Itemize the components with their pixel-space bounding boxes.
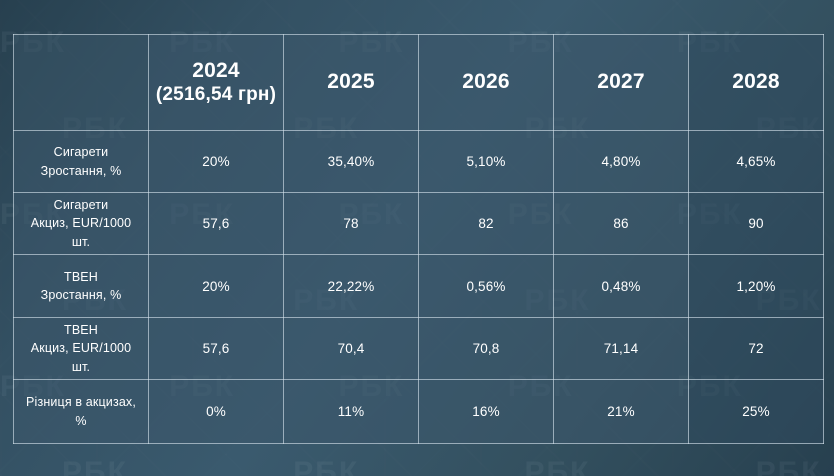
row-label-line1: ТВЕН [20,268,142,286]
cell-cigarettes-excise-2026: 82 [419,193,554,255]
cell-excise-difference-2024: 0% [149,380,284,444]
cell-cigarettes-growth-2025: 35,40% [284,131,419,193]
table-corner-cell [14,35,149,131]
column-header-2024: 2024 (2516,54 грн) [149,35,284,131]
row-label-cigarettes-excise: Сигарети Акциз, EUR/1000 шт. [14,193,149,255]
table-row: Різниця в акцизах, % 0% 11% 16% 21% 25% [14,380,824,444]
row-label-tven-excise: ТВЕН Акциз, EUR/1000 шт. [14,318,149,380]
row-label-line1: ТВЕН [20,321,142,339]
row-label-line2: Зростання, % [20,286,142,304]
row-label-line2: Акциз, EUR/1000 шт. [20,339,142,375]
cell-cigarettes-growth-2026: 5,10% [419,131,554,193]
row-label-line2: Акциз, EUR/1000 шт. [20,214,142,250]
cell-tven-excise-2024: 57,6 [149,318,284,380]
cell-tven-excise-2025: 70,4 [284,318,419,380]
cell-excise-difference-2027: 21% [554,380,689,444]
table-row: Сигарети Зростання, % 20% 35,40% 5,10% 4… [14,131,824,193]
column-header-2025: 2025 [284,35,419,131]
table-row: Сигарети Акциз, EUR/1000 шт. 57,6 78 82 … [14,193,824,255]
cell-tven-growth-2025: 22,22% [284,255,419,318]
table-row: ТВЕН Зростання, % 20% 22,22% 0,56% 0,48%… [14,255,824,318]
table-row: ТВЕН Акциз, EUR/1000 шт. 57,6 70,4 70,8 … [14,318,824,380]
row-label-line1: Різниця в акцизах, % [20,393,142,429]
cell-tven-excise-2026: 70,8 [419,318,554,380]
cell-cigarettes-excise-2024: 57,6 [149,193,284,255]
row-label-cigarettes-growth: Сигарети Зростання, % [14,131,149,193]
cell-tven-growth-2027: 0,48% [554,255,689,318]
table-header-row: 2024 (2516,54 грн) 2025 2026 2027 2028 [14,35,824,131]
table-body: Сигарети Зростання, % 20% 35,40% 5,10% 4… [14,131,824,444]
row-label-line2: Зростання, % [20,162,142,180]
row-label-excise-difference: Різниця в акцизах, % [14,380,149,444]
row-label-tven-growth: ТВЕН Зростання, % [14,255,149,318]
cell-cigarettes-excise-2028: 90 [689,193,824,255]
column-header-2024-year: 2024 [192,59,240,82]
cell-tven-excise-2027: 71,14 [554,318,689,380]
cell-cigarettes-growth-2024: 20% [149,131,284,193]
cell-excise-difference-2028: 25% [689,380,824,444]
column-header-2028: 2028 [689,35,824,131]
cell-tven-growth-2024: 20% [149,255,284,318]
row-label-line1: Сигарети [20,143,142,161]
row-label-line1: Сигарети [20,196,142,214]
column-header-2024-amount: (2516,54 грн) [149,84,283,106]
cell-cigarettes-growth-2027: 4,80% [554,131,689,193]
excise-tax-table: 2024 (2516,54 грн) 2025 2026 2027 2028 С… [13,34,824,444]
cell-excise-difference-2026: 16% [419,380,554,444]
table-header: 2024 (2516,54 грн) 2025 2026 2027 2028 [14,35,824,131]
cell-tven-excise-2028: 72 [689,318,824,380]
cell-cigarettes-growth-2028: 4,65% [689,131,824,193]
cell-cigarettes-excise-2025: 78 [284,193,419,255]
cell-cigarettes-excise-2027: 86 [554,193,689,255]
cell-excise-difference-2025: 11% [284,380,419,444]
excise-tax-table-container: 2024 (2516,54 грн) 2025 2026 2027 2028 С… [13,34,823,438]
column-header-2027: 2027 [554,35,689,131]
column-header-2026: 2026 [419,35,554,131]
cell-tven-growth-2026: 0,56% [419,255,554,318]
cell-tven-growth-2028: 1,20% [689,255,824,318]
